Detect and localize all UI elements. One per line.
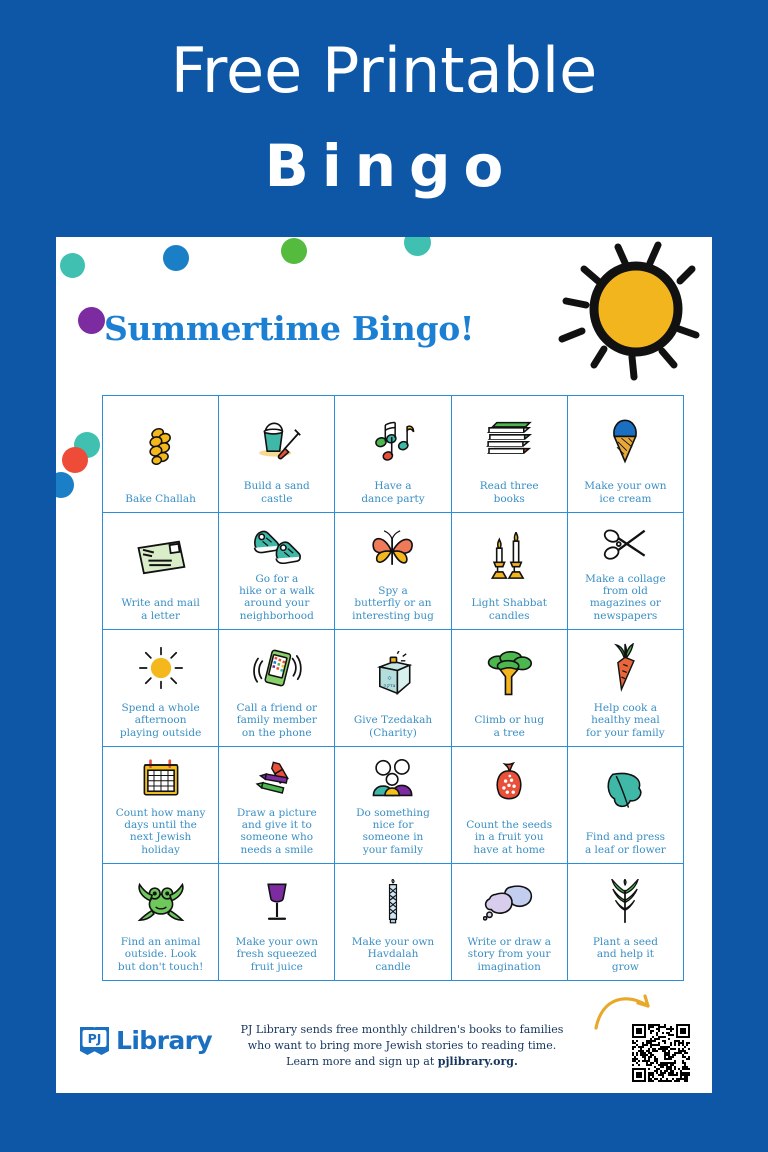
pin-title-line-2: Bingo xyxy=(0,132,768,200)
bingo-cell-label: Light Shabbat candles xyxy=(455,597,564,622)
pjlibrary-url[interactable]: pjlibrary.org. xyxy=(438,1055,518,1068)
footer-description: PJ Library sends free monthly children's… xyxy=(224,1022,580,1070)
bingo-cell[interactable]: Help cook a healthy meal for your family xyxy=(568,630,684,747)
bingo-cell-label: Spy a butterfly or an interesting bug xyxy=(338,585,447,622)
bingo-card: Summertime Bingo! xyxy=(56,237,712,1093)
bingo-cell[interactable]: Have a dance party xyxy=(335,396,451,513)
bingo-cell[interactable]: צדקהGive Tzedakah (Charity) xyxy=(335,630,451,747)
bingo-cell[interactable]: Count the seeds in a fruit you have at h… xyxy=(452,747,568,864)
tzedakah-box-icon: צדקה xyxy=(338,634,447,714)
sneakers-icon xyxy=(222,517,331,573)
bingo-cell-label: Spend a whole afternoon playing outside xyxy=(106,702,215,739)
bingo-cell[interactable]: Go for a hike or a walk around your neig… xyxy=(219,513,335,630)
bingo-cell-label: Build a sand castle xyxy=(222,480,331,505)
tree-icon xyxy=(455,634,564,714)
bingo-cell-label: Make your own ice cream xyxy=(571,480,680,505)
bingo-cell-label: Make your own fresh squeezed fruit juice xyxy=(222,936,331,973)
bingo-cell-label: Count how many days until the next Jewis… xyxy=(106,807,215,857)
thought-bubbles-icon xyxy=(455,868,564,936)
bingo-cell-label: Give Tzedakah (Charity) xyxy=(338,714,447,739)
butterfly-icon xyxy=(338,517,447,585)
dot-red-1 xyxy=(62,447,88,473)
logo-initials: PJ xyxy=(88,1031,102,1046)
bingo-cell[interactable]: Draw a picture and give it to someone wh… xyxy=(219,747,335,864)
family-group-icon xyxy=(338,751,447,807)
bingo-cell[interactable]: Write and mail a letter xyxy=(103,513,219,630)
pomegranate-icon xyxy=(455,751,564,819)
bingo-cell-label: Call a friend or family member on the ph… xyxy=(222,702,331,739)
footer-line-3-prefix: Learn more and sign up at xyxy=(286,1055,438,1068)
bingo-cell[interactable]: Write or draw a story from your imaginat… xyxy=(452,864,568,981)
calendar-icon xyxy=(106,751,215,807)
bingo-cell[interactable]: Build a sand castle xyxy=(219,396,335,513)
footer-line-1: PJ Library sends free monthly children's… xyxy=(224,1022,580,1038)
bingo-cell-label: Draw a picture and give it to someone wh… xyxy=(222,807,331,857)
bingo-cell[interactable]: Call a friend or family member on the ph… xyxy=(219,630,335,747)
bingo-cell[interactable]: Find an animal outside. Look but don't t… xyxy=(103,864,219,981)
bingo-grid: Bake Challah Build a sand castle Have a … xyxy=(102,395,684,981)
card-footer: PJ Library PJ Library sends free monthly… xyxy=(56,1002,712,1093)
sun-small-icon xyxy=(106,634,215,702)
pin-title-line-1: Free Printable xyxy=(0,40,768,102)
wine-glass-icon xyxy=(222,868,331,936)
bingo-cell[interactable]: Count how many days until the next Jewis… xyxy=(103,747,219,864)
bingo-cell[interactable]: Find and press a leaf or flower xyxy=(568,747,684,864)
bingo-cell-label: Write and mail a letter xyxy=(106,597,215,622)
scissors-icon xyxy=(571,517,680,573)
bingo-cell[interactable]: Make a collage from old magazines or new… xyxy=(568,513,684,630)
pin-header: Free Printable Bingo xyxy=(0,40,768,200)
bingo-cell[interactable]: Plant a seed and help it grow xyxy=(568,864,684,981)
bingo-cell-label: Make a collage from old magazines or new… xyxy=(571,573,680,623)
bingo-cell-label: Find an animal outside. Look but don't t… xyxy=(106,936,215,973)
qr-code-icon[interactable] xyxy=(632,1024,690,1082)
bingo-cell-label: Plant a seed and help it grow xyxy=(571,936,680,973)
book-stack-icon xyxy=(455,400,564,480)
card-header: Summertime Bingo! xyxy=(56,237,712,389)
bingo-cell[interactable]: Spend a whole afternoon playing outside xyxy=(103,630,219,747)
bingo-cell-label: Make your own Havdalah candle xyxy=(338,936,447,973)
pj-library-logo: PJ Library xyxy=(78,1024,212,1057)
bingo-cell-label: Do something nice for someone in your fa… xyxy=(338,807,447,857)
pj-library-book-icon: PJ xyxy=(78,1024,111,1057)
frog-icon xyxy=(106,868,215,936)
bingo-cell[interactable]: Bake Challah xyxy=(103,396,219,513)
bingo-cell[interactable]: Read three books xyxy=(452,396,568,513)
mobile-phone-icon xyxy=(222,634,331,702)
ice-cream-cone-icon xyxy=(571,400,680,480)
leaf-icon xyxy=(571,751,680,831)
footer-line-2: who want to bring more Jewish stories to… xyxy=(224,1038,580,1054)
bingo-cell-label: Bake Challah xyxy=(106,493,215,505)
bingo-cell[interactable]: Spy a butterfly or an interesting bug xyxy=(335,513,451,630)
envelope-icon xyxy=(106,517,215,597)
pinterest-graphic: Free Printable Bingo Summertime Bingo! xyxy=(0,0,768,1152)
footer-line-3: Learn more and sign up at pjlibrary.org. xyxy=(224,1054,580,1070)
bingo-cell[interactable]: Do something nice for someone in your fa… xyxy=(335,747,451,864)
music-notes-icon xyxy=(338,400,447,480)
havdalah-candle-icon xyxy=(338,868,447,936)
shabbat-candles-icon xyxy=(455,517,564,597)
bingo-cell-label: Read three books xyxy=(455,480,564,505)
bingo-cell[interactable]: Climb or hug a tree xyxy=(452,630,568,747)
bingo-cell[interactable]: Make your own ice cream xyxy=(568,396,684,513)
bingo-cell-label: Climb or hug a tree xyxy=(455,714,564,739)
bingo-cell-label: Count the seeds in a fruit you have at h… xyxy=(455,819,564,856)
bingo-cell-label: Write or draw a story from your imaginat… xyxy=(455,936,564,973)
dot-blue-2 xyxy=(56,472,74,498)
svg-text:צדקה: צדקה xyxy=(383,684,395,689)
bingo-cell[interactable]: Make your own Havdalah candle xyxy=(335,864,451,981)
pj-library-wordmark: Library xyxy=(116,1026,212,1055)
challah-icon xyxy=(106,400,215,493)
sandcastle-bucket-icon xyxy=(222,400,331,480)
bingo-cell-label: Have a dance party xyxy=(338,480,447,505)
bingo-cell[interactable]: Make your own fresh squeezed fruit juice xyxy=(219,864,335,981)
sun-icon xyxy=(546,239,706,389)
crayons-icon xyxy=(222,751,331,807)
bingo-cell-label: Find and press a leaf or flower xyxy=(571,831,680,856)
bingo-cell[interactable]: Light Shabbat candles xyxy=(452,513,568,630)
card-title: Summertime Bingo! xyxy=(104,309,474,348)
sprout-icon xyxy=(571,868,680,936)
bingo-cell-label: Help cook a healthy meal for your family xyxy=(571,702,680,739)
carrot-icon xyxy=(571,634,680,702)
bingo-cell-label: Go for a hike or a walk around your neig… xyxy=(222,573,331,623)
